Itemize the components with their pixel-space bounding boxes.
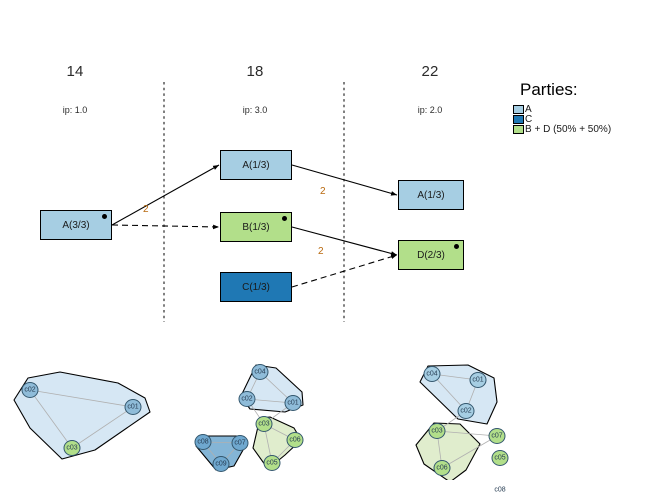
graph-node-label-g2-c07: c07 bbox=[234, 440, 245, 447]
community-node-label: A(3/3) bbox=[62, 220, 89, 231]
community-node-label: C(1/3) bbox=[242, 282, 270, 293]
legend-label: B + D (50% + 50%) bbox=[525, 124, 611, 135]
column-ip-14: ip: 1.0 bbox=[35, 105, 115, 115]
community-node-n-a-18[interactable]: A(1/3) bbox=[220, 150, 292, 180]
graph-node-label-g3-c02: c02 bbox=[460, 408, 471, 415]
community-node-n-d-22[interactable]: D(2/3) bbox=[398, 240, 464, 270]
graph-node-label-g3-c03: c03 bbox=[431, 428, 442, 435]
node-marker-dot bbox=[102, 214, 107, 219]
graph-node-label-g2-c05: c05 bbox=[266, 460, 277, 467]
graph-node-label-g3-c01: c01 bbox=[472, 377, 483, 384]
graph-node-label-g1-c01: c01 bbox=[127, 404, 138, 411]
figure-canvas: 14ip: 1.018ip: 3.022ip: 2.0 A(3/3)A(1/3)… bbox=[0, 0, 672, 480]
graph-node-label-g3-c08: c08 bbox=[494, 487, 505, 494]
legend-item-legend-bd: B + D (50% + 50%) bbox=[513, 124, 611, 135]
edge-weight-e-a18-a22: 2 bbox=[320, 186, 326, 197]
graph-node-label-g2-c09: c09 bbox=[215, 461, 226, 468]
edge-weight-e-a14-a18: 2 bbox=[143, 204, 149, 215]
graph-node-label-g2-c03: c03 bbox=[258, 421, 269, 428]
column-ip-22: ip: 2.0 bbox=[390, 105, 470, 115]
graph-node-label-g3-c06: c06 bbox=[436, 465, 447, 472]
community-node-label: B(1/3) bbox=[242, 222, 269, 233]
graph-node-label-g3-c07: c07 bbox=[491, 433, 502, 440]
column-header-14: 14 bbox=[35, 63, 115, 80]
graph-node-label-g2-c06: c06 bbox=[289, 437, 300, 444]
community-node-label: A(1/3) bbox=[417, 190, 444, 201]
community-node-label: D(2/3) bbox=[417, 250, 445, 261]
legend-swatch-legend-bd bbox=[513, 125, 524, 134]
graph-node-label-g3-c04: c04 bbox=[426, 371, 437, 378]
graph-node-label-g2-c02: c02 bbox=[241, 396, 252, 403]
community-node-n-a-22[interactable]: A(1/3) bbox=[398, 180, 464, 210]
community-node-label: A(1/3) bbox=[242, 160, 269, 171]
legend-title: Parties: bbox=[520, 80, 578, 100]
node-marker-dot bbox=[282, 216, 287, 221]
column-ip-18: ip: 3.0 bbox=[215, 105, 295, 115]
graph-snapshot-18 bbox=[195, 365, 303, 472]
graph-snapshot-14 bbox=[14, 372, 150, 459]
column-header-18: 18 bbox=[215, 63, 295, 80]
transition-edge-e-a14-b18 bbox=[112, 225, 219, 227]
graph-node-label-g1-c03: c03 bbox=[66, 445, 77, 452]
community-node-n-b-18[interactable]: B(1/3) bbox=[220, 212, 292, 242]
graph-node-label-g2-c04: c04 bbox=[254, 369, 265, 376]
graph-node-label-g1-c02: c02 bbox=[24, 387, 35, 394]
graph-node-label-g2-c08: c08 bbox=[197, 439, 208, 446]
node-marker-dot bbox=[454, 244, 459, 249]
legend-swatch-legend-a bbox=[513, 105, 524, 114]
community-node-n-c-18[interactable]: C(1/3) bbox=[220, 272, 292, 302]
transition-edge-e-a14-a18 bbox=[112, 165, 219, 225]
edge-weight-e-b18-d22: 2 bbox=[318, 246, 324, 257]
graph-snapshot-22 bbox=[416, 365, 508, 480]
graph-node-label-g3-c05: c05 bbox=[494, 455, 505, 462]
legend-swatch-legend-c bbox=[513, 115, 524, 124]
community-node-n-a-14[interactable]: A(3/3) bbox=[40, 210, 112, 240]
column-header-22: 22 bbox=[390, 63, 470, 80]
graph-node-label-g2-c01: c01 bbox=[287, 400, 298, 407]
